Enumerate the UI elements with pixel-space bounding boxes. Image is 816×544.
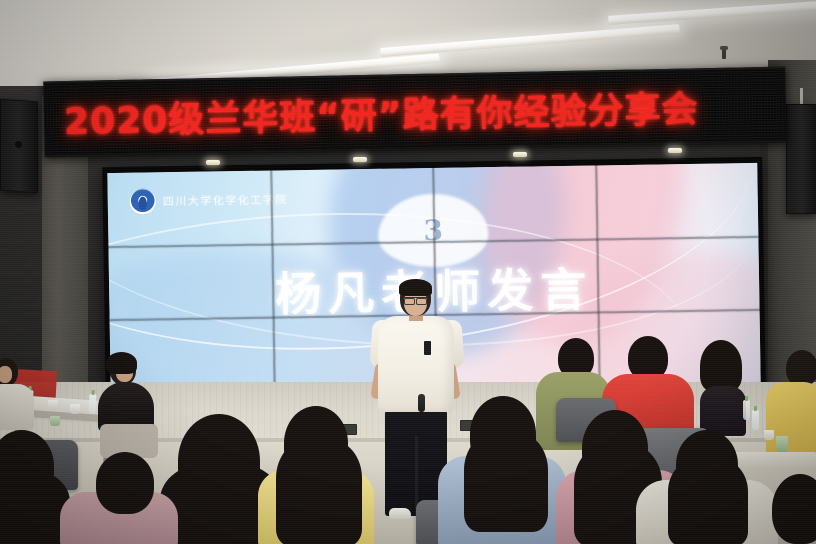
hair — [399, 279, 432, 296]
conference-room-photo: 2020级兰华班“研”路有你经验分享会 四川大学化学化工学院 3 杨凡老师发言 — [0, 0, 816, 544]
water-bottle — [752, 410, 759, 430]
paper-cup — [70, 404, 80, 414]
university-emblem-icon — [130, 189, 156, 215]
handheld-microphone — [418, 394, 425, 412]
hair — [276, 440, 362, 544]
frame-spot-light — [513, 152, 527, 157]
paper-cup — [48, 400, 58, 410]
hair — [668, 458, 748, 544]
hair — [700, 340, 742, 392]
speaker-driver-icon — [15, 141, 22, 148]
shirt-pocket-item — [424, 341, 431, 355]
speaker-mount — [800, 88, 803, 104]
shoe-left — [389, 508, 411, 519]
slide-logo: 四川大学化学化工学院 — [130, 187, 288, 215]
head — [96, 452, 154, 514]
hair — [464, 432, 548, 532]
frame-spot-light — [353, 157, 367, 162]
torso — [766, 382, 816, 458]
water-bottle — [743, 400, 750, 420]
green-carton — [776, 436, 788, 452]
water-bottle — [88, 394, 96, 414]
sprinkler-head-icon — [722, 48, 726, 59]
head — [786, 350, 816, 386]
green-cup — [50, 416, 60, 426]
hair — [106, 352, 137, 374]
face — [0, 366, 12, 383]
torso — [0, 384, 34, 430]
frame-spot-light — [206, 160, 220, 165]
led-banner-text: 2020级兰华班“研”路有你经验分享会 — [64, 79, 777, 145]
torso-white-tshirt — [378, 316, 454, 412]
paper-cup — [764, 430, 774, 440]
torso — [700, 386, 746, 436]
led-banner: 2020级兰华班“研”路有你经验分享会 — [43, 67, 786, 158]
head — [772, 474, 816, 544]
right-wall-speaker — [786, 104, 816, 214]
glasses-icon — [404, 297, 427, 304]
frame-spot-light — [668, 148, 682, 153]
left-wall-speaker — [0, 99, 38, 194]
